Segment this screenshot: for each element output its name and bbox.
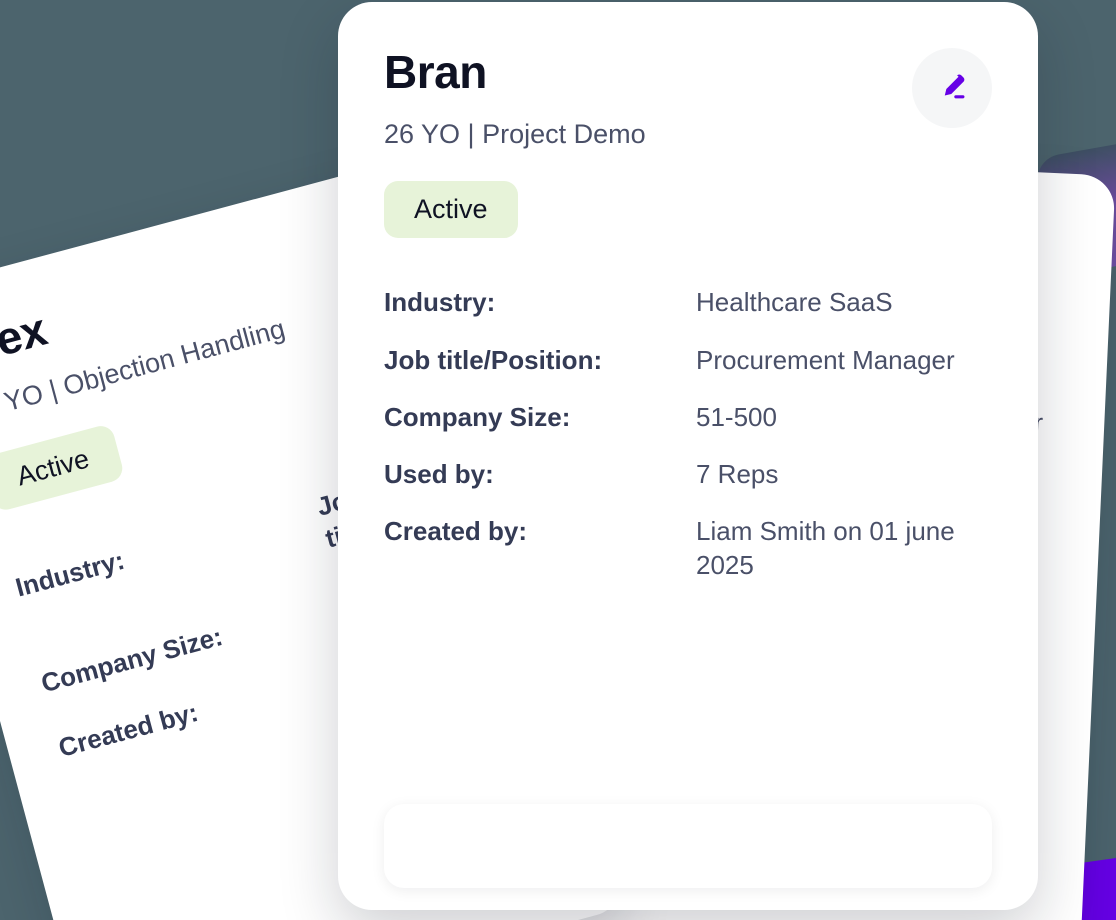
detail-label-created-by: Created by: [384, 515, 696, 548]
detail-value-used-by: 7 Reps [696, 458, 976, 491]
detail-value-created-by: Liam Smith on 01 june 2025 [696, 515, 976, 582]
canvas: Industry: Healthcare SaaS Job title/Posi… [0, 0, 1116, 920]
persona-card-main[interactable]: Bran 26 YO | Project Demo Active Industr… [338, 2, 1038, 910]
detail-value-industry: Healthcare SaaS [696, 286, 976, 319]
detail-label: Industry: [12, 492, 322, 604]
person-meta: 26 YO | Project Demo [384, 118, 646, 150]
detail-value-job-title: Procurement Manager [696, 344, 976, 377]
detail-label-used-by: Used by: [384, 458, 696, 491]
pencil-edit-icon [935, 71, 969, 105]
edit-button[interactable] [912, 48, 992, 128]
status-badge: Active [0, 423, 125, 513]
status-badge: Active [384, 181, 518, 239]
detail-label-industry: Industry: [384, 286, 696, 319]
detail-label-company-size: Company Size: [384, 401, 696, 434]
detail-value-company-size: 51-500 [696, 401, 976, 434]
detail-list: Industry: Healthcare SaaS Job title/Posi… [384, 286, 992, 582]
detail-label-job-title: Job title/Position: [384, 344, 696, 377]
page-title: Bran [384, 48, 646, 96]
card-footer-panel [384, 804, 992, 888]
card-header: Bran 26 YO | Project Demo Active [384, 48, 992, 238]
